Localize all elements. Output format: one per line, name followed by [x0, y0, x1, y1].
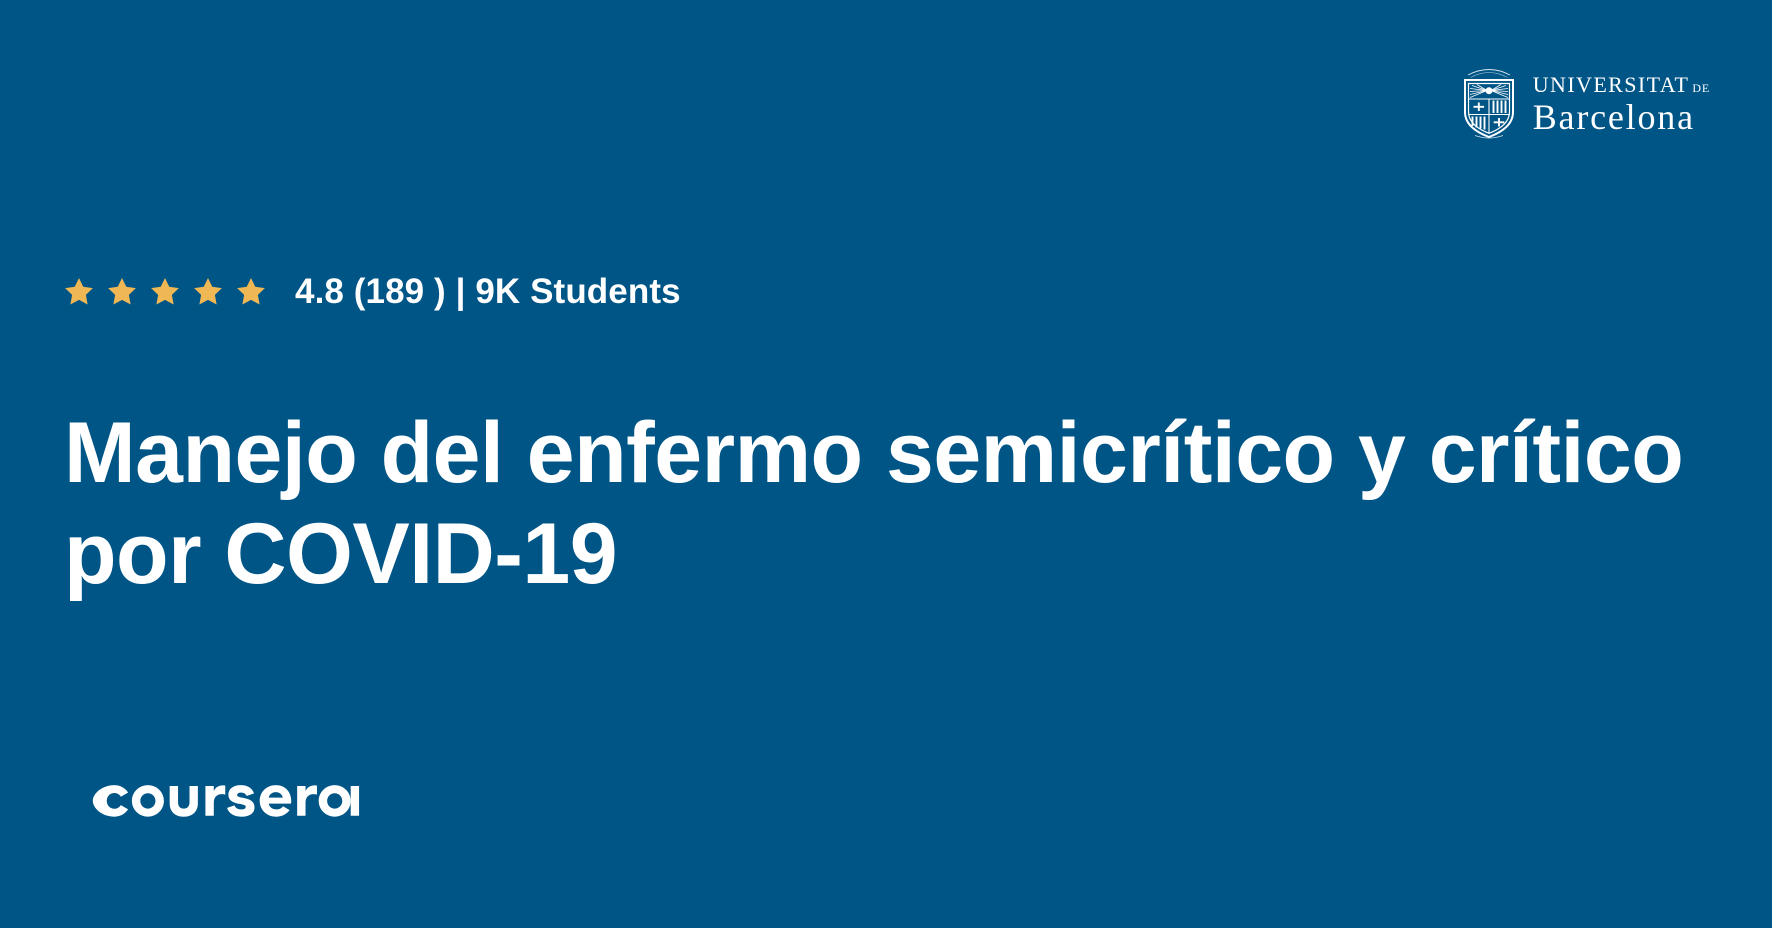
star-icon — [193, 276, 223, 306]
university-crest-icon — [1461, 62, 1517, 140]
star-icon — [150, 276, 180, 306]
rating-text: 4.8 (189 ) | 9K Students — [295, 274, 681, 309]
star-icon — [236, 276, 266, 306]
rating-row: 4.8 (189 ) | 9K Students — [64, 266, 681, 316]
university-name-primary: Universitat — [1533, 66, 1690, 97]
course-promo-card: Universitat de Barcelona 4.8 (189 — [0, 0, 1772, 928]
star-icon — [107, 276, 137, 306]
university-logo: Universitat de Barcelona — [1461, 62, 1710, 140]
university-wordmark-line-1: Universitat de — [1533, 66, 1710, 97]
university-name-city: Barcelona — [1533, 99, 1710, 137]
star-rating — [64, 276, 266, 306]
course-title: Manejo del enfermo semicrítico y crítico… — [64, 403, 1704, 606]
university-name-connector: de — [1692, 78, 1710, 95]
coursera-logo — [92, 768, 360, 828]
coursera-logo-icon — [92, 772, 360, 824]
university-wordmark: Universitat de Barcelona — [1533, 66, 1710, 137]
star-icon — [64, 276, 94, 306]
